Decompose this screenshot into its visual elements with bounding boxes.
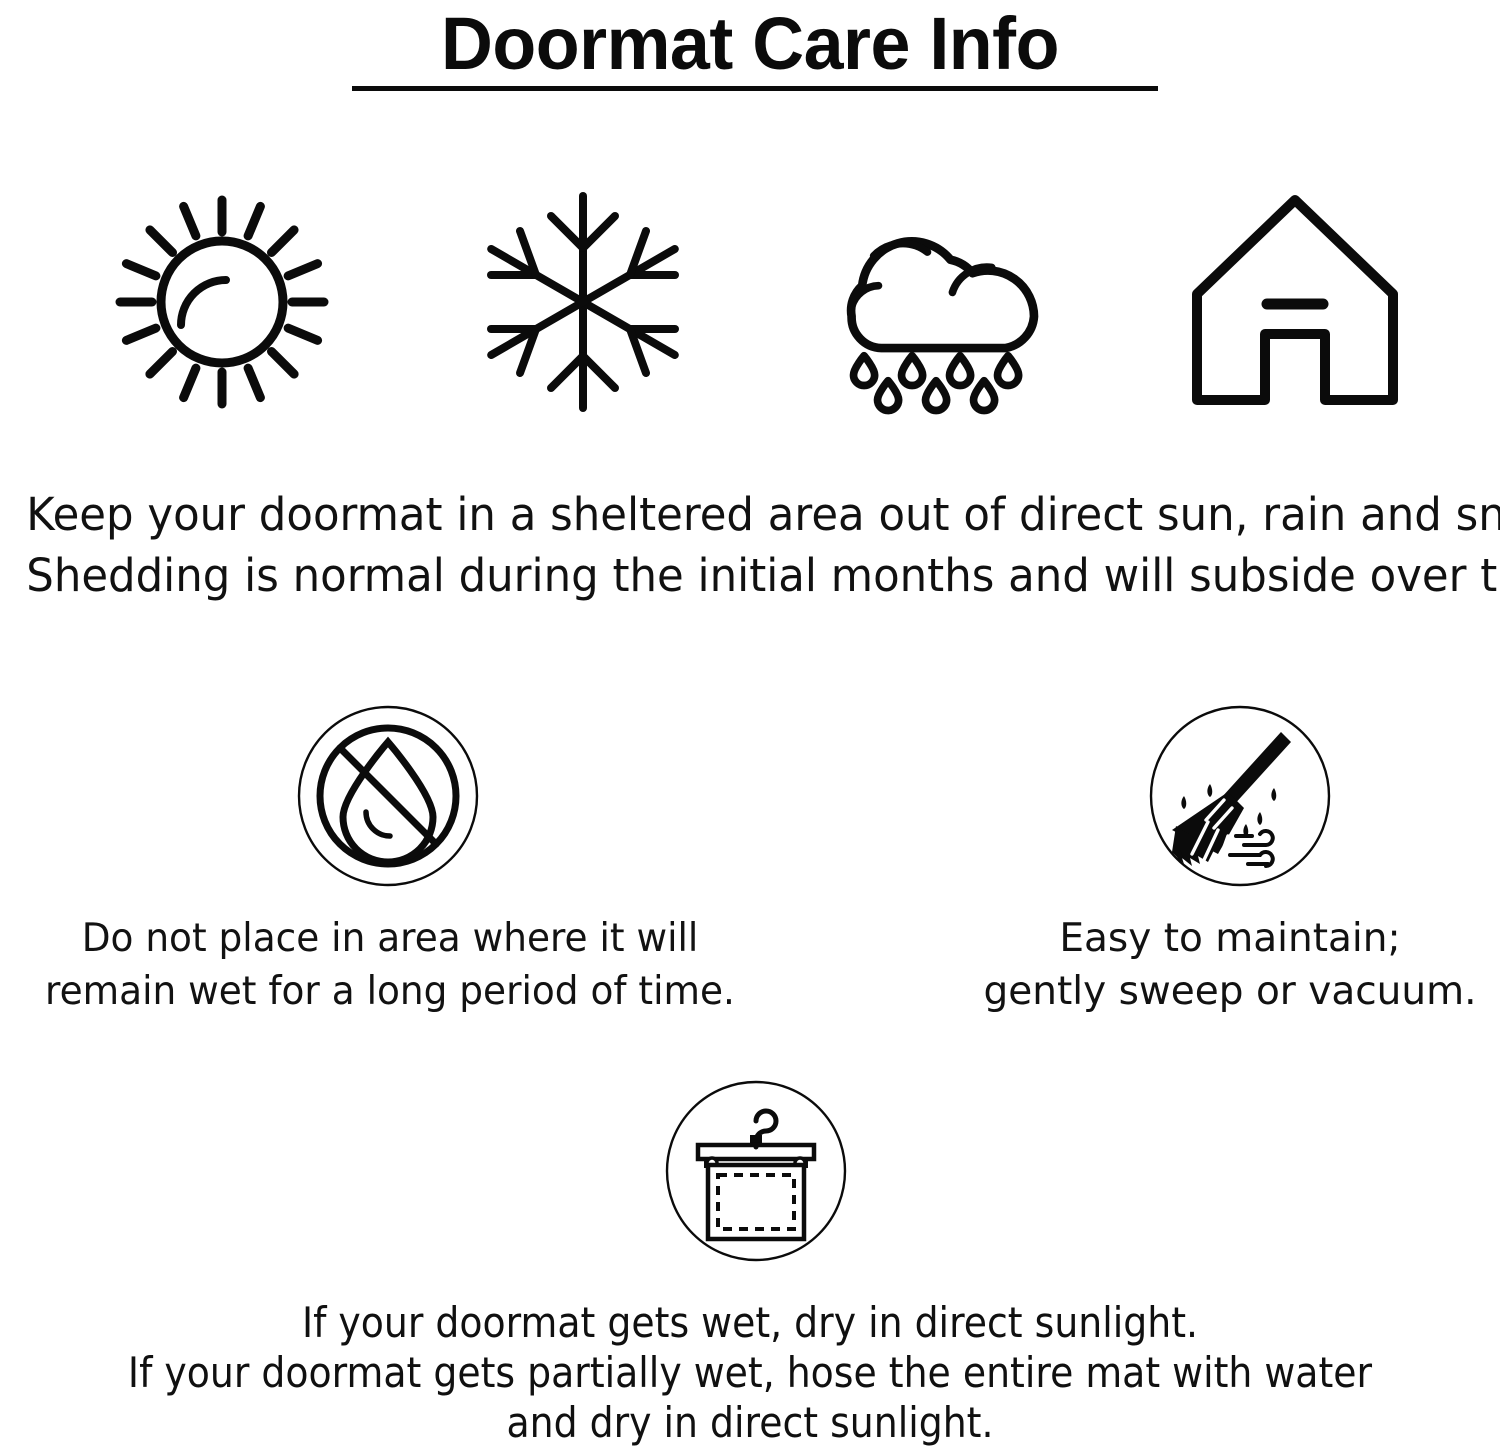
title-underline-rule <box>352 86 1158 91</box>
care-info-sheet: Doormat Care Info <box>0 0 1500 1446</box>
no-water-caption-line-2: remain wet for a long period of time. <box>16 965 765 1018</box>
no-water-droplet-icon <box>296 704 480 888</box>
page-title: Doormat Care Info <box>23 0 1478 86</box>
weather-icon-row <box>0 182 1500 427</box>
drying-line-2: If your doormat gets partially wet, hose… <box>75 1348 1425 1398</box>
no-water-caption: Do not place in area where it will remai… <box>16 912 765 1018</box>
hanger-drying-icon <box>664 1079 848 1263</box>
intro-line-1: Keep your doormat in a sheltered area ou… <box>26 484 1474 545</box>
intro-line-2: Shedding is normal during the initial mo… <box>26 545 1474 606</box>
sun-icon <box>102 182 342 422</box>
house-icon <box>1175 182 1415 422</box>
no-water-caption-line-1: Do not place in area where it will <box>16 912 765 965</box>
rain-cloud-icon <box>818 182 1058 422</box>
drying-line-1: If your doormat gets wet, dry in direct … <box>75 1298 1425 1348</box>
snowflake-icon <box>463 182 703 422</box>
drying-instructions: If your doormat gets wet, dry in direct … <box>75 1298 1425 1448</box>
broom-caption-line-2: gently sweep or vacuum. <box>950 965 1500 1018</box>
intro-paragraph: Keep your doormat in a sheltered area ou… <box>26 484 1474 606</box>
broom-caption: Easy to maintain; gently sweep or vacuum… <box>950 912 1500 1018</box>
drying-line-3: and dry in direct sunlight. <box>75 1398 1425 1448</box>
title-block: Doormat Care Info <box>0 0 1500 86</box>
broom-caption-line-1: Easy to maintain; <box>950 912 1500 965</box>
broom-sweeping-icon <box>1148 704 1332 888</box>
